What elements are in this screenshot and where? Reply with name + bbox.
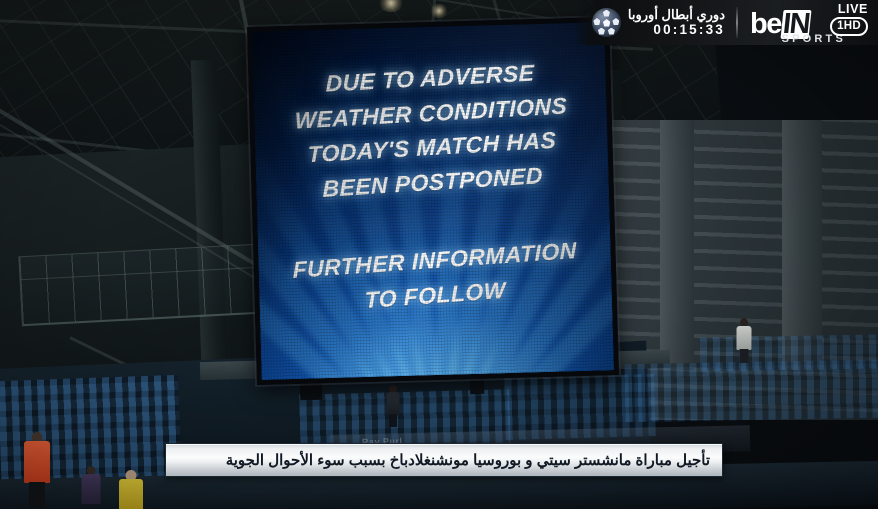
competition-text-group: دوري أبطال أوروبا 00:15:33 (628, 8, 725, 37)
person-legs (740, 349, 749, 363)
steward-in-yellow-vest (117, 470, 145, 509)
person-walking-in-stand (735, 318, 753, 362)
person-torso (82, 474, 101, 504)
screen-glare (252, 22, 614, 380)
person-torso (387, 392, 400, 415)
live-badge: LIVE (838, 2, 868, 16)
person-torso (737, 326, 752, 350)
champions-league-ball-icon (592, 8, 621, 37)
bein-wordmark-be: be (750, 8, 781, 40)
competition-clock-group: دوري أبطال أوروبا 00:15:33 (578, 0, 736, 45)
roof-floodlight-icon (430, 4, 448, 18)
channel-logo-group: beIN SPORTS LIVE 1HD (738, 0, 878, 45)
ticker-headline: تأجيل مباراة مانشستر سيتي و بوروسيا مونش… (226, 453, 710, 468)
match-clock: 00:15:33 (653, 23, 725, 37)
person-walking-in-stand (385, 385, 401, 427)
stadium-jumbotron-screen: DUE TO ADVERSE WEATHER CONDITIONS TODAY'… (247, 17, 619, 385)
stadium-scene: Ray Purl (0, 0, 878, 509)
maintenance-gantry (18, 244, 261, 326)
lower-third-ticker: تأجيل مباراة مانشستر سيتي و بوروسيا مونش… (165, 443, 723, 477)
hd-quality-badge: 1HD (830, 17, 868, 36)
gantry-railing (19, 245, 260, 324)
broadcast-overlay-bug: دوري أبطال أوروبا 00:15:33 beIN SPORTS L… (578, 0, 878, 45)
wall-column (660, 120, 694, 370)
wall-column (782, 120, 822, 370)
seating-block (700, 334, 878, 371)
person-torso (119, 479, 143, 509)
competition-name: دوري أبطال أوروبا (628, 8, 725, 22)
spectator (80, 466, 102, 509)
person-legs (389, 414, 397, 427)
steward-in-orange-vest (22, 432, 52, 506)
person-torso (24, 441, 50, 483)
jumbotron-display-surface: DUE TO ADVERSE WEATHER CONDITIONS TODAY'… (252, 22, 614, 380)
person-legs (29, 482, 45, 508)
